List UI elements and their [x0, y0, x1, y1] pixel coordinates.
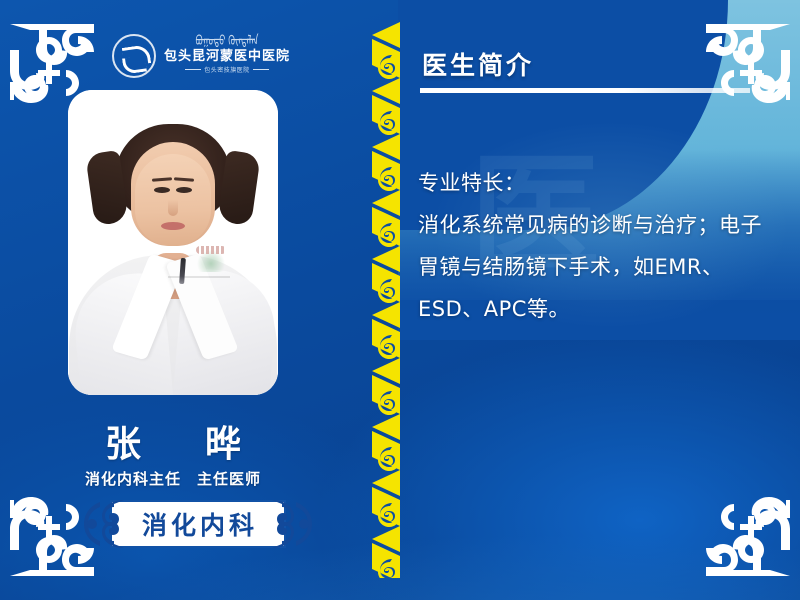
mongolian-zigzag-spiral-divider-icon [366, 22, 406, 578]
poster-canvas: 医 [0, 0, 800, 600]
doctor-photo-card [68, 90, 278, 395]
doctor-name: 张 晔 [68, 415, 278, 467]
doctor-title-secondary: 主任医师 [197, 468, 261, 489]
portrait-mouth [161, 222, 185, 230]
portrait-eye-right [176, 187, 192, 193]
cloud-scroll-corner-ornament-icon [702, 20, 794, 112]
department-badge: 消化内科 [82, 500, 314, 548]
hospital-crane-emblem-icon [112, 34, 156, 78]
doctor-portrait [68, 90, 278, 395]
cloud-scroll-corner-ornament-icon [702, 488, 794, 580]
hospital-name-cn: 包头昆河蒙医中医院 [164, 48, 290, 64]
profile-paragraph: 专业特长： 消化系统常见病的诊断与治疗；电子胃镜与结肠镜下手术，如EMR、ESD… [418, 162, 770, 330]
title-underline [420, 88, 750, 93]
doctor-title-primary: 消化内科主任 [85, 468, 181, 489]
hospital-name-group: ᠪᠤᠭᠤᠲᠤ ᠬᠦᠨᠳᠡᠯᠡᠨ 包头昆河蒙医中医院 包头密技旗医院 [164, 38, 290, 74]
hospital-logo-block: ᠪᠤᠭᠤᠲᠤ ᠬᠦᠨᠳᠡᠯᠡᠨ 包头昆河蒙医中医院 包头密技旗医院 [112, 34, 290, 78]
hospital-mongolian-script: ᠪᠤᠭᠤᠲᠤ ᠬᠦᠨᠳᠡᠯᠡᠨ [196, 36, 259, 50]
portrait-pocket [168, 276, 230, 278]
coat-embroidered-logo-icon [194, 250, 228, 272]
department-badge-label: 消化内科 [110, 500, 286, 548]
page-title: 医生简介 [422, 46, 534, 82]
portrait-eye-left [154, 187, 170, 193]
portrait-nose [168, 200, 178, 216]
hospital-subtitle-cn: 包头密技旗医院 [185, 65, 269, 74]
doctor-titles: 消化内科主任 主任医师 [48, 468, 298, 489]
doctor-profile-text: 专业特长： 消化系统常见病的诊断与治疗；电子胃镜与结肠镜下手术，如EMR、ESD… [418, 162, 770, 330]
